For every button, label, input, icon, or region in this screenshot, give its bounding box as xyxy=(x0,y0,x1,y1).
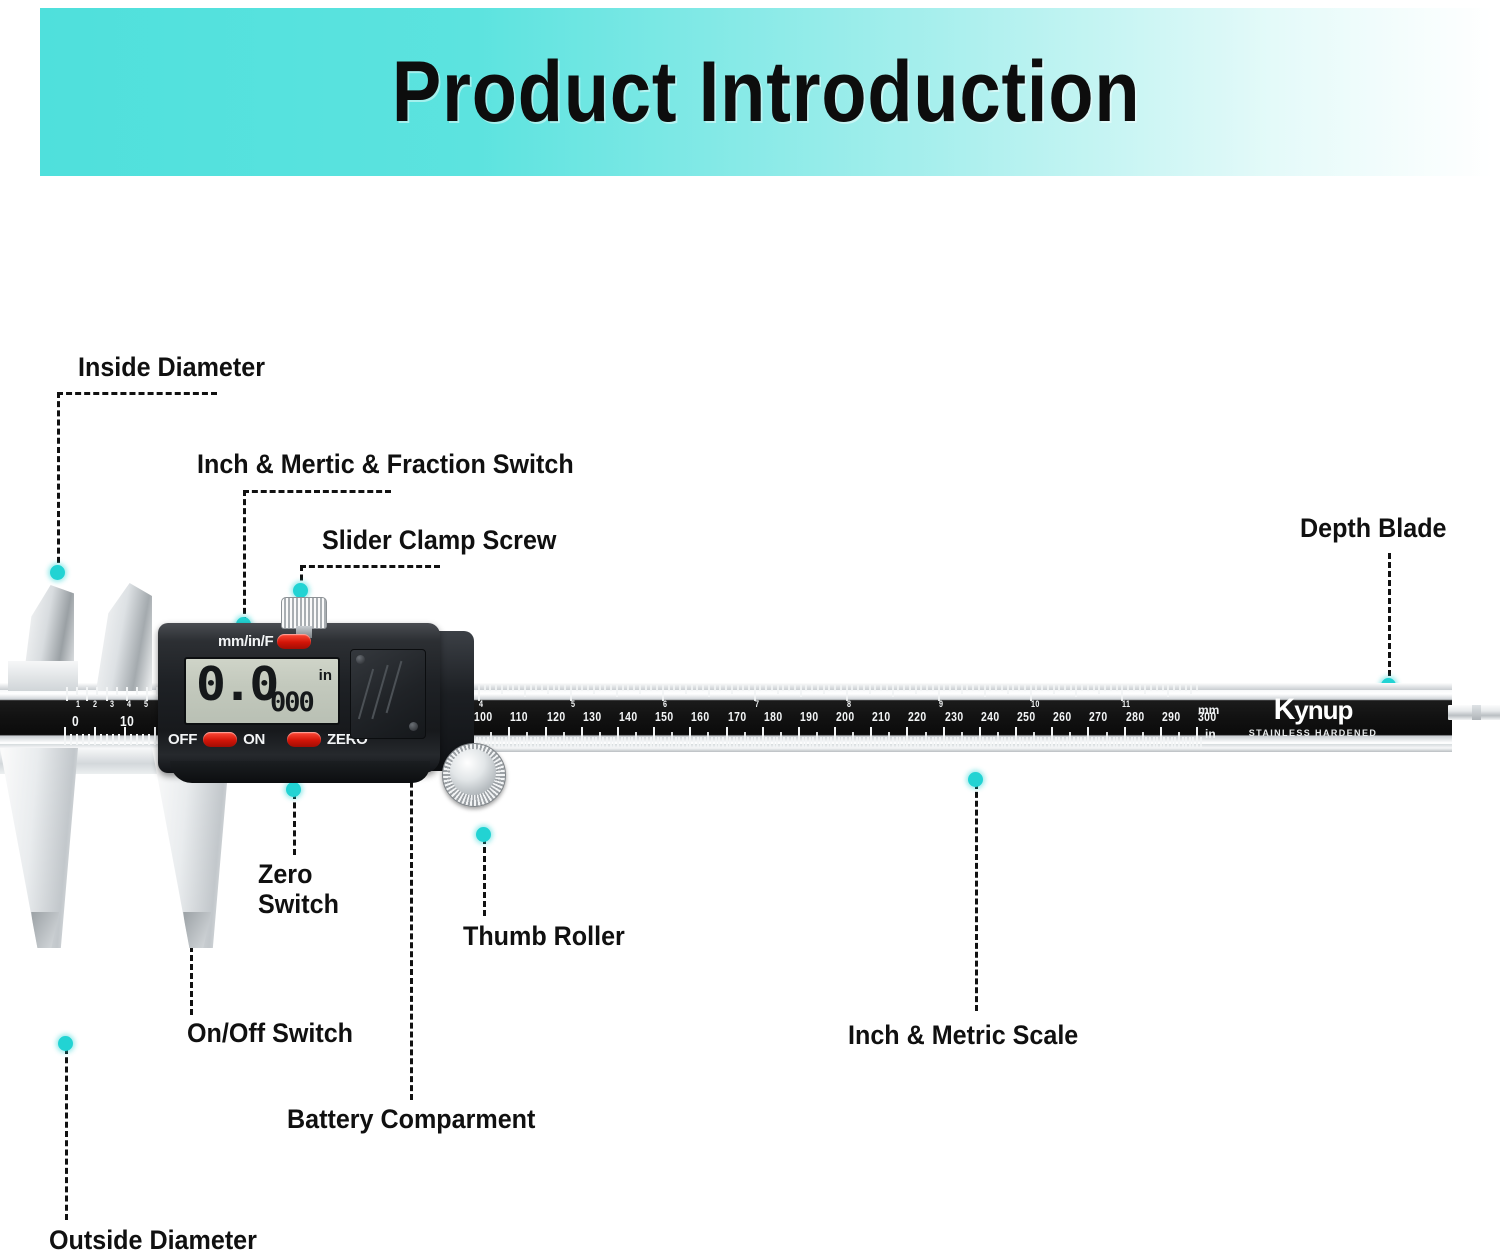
scale-tick-inch xyxy=(731,685,733,694)
scale-tick-minor xyxy=(1200,737,1202,747)
scale-tick-minor xyxy=(624,737,626,747)
scale-tick-minor xyxy=(599,732,601,747)
scale-tick-inch xyxy=(696,685,698,691)
vernier-tick xyxy=(142,734,144,745)
scale-tick-inch xyxy=(851,685,853,691)
scale-tick-inch xyxy=(1093,685,1095,691)
scale-tick-inch xyxy=(1156,685,1158,691)
scale-tick-inch xyxy=(622,685,624,691)
scale-tick-minor xyxy=(816,732,818,747)
scale-tick-minor xyxy=(534,737,536,747)
scale-tick-minor xyxy=(914,737,916,747)
scale-tick-minor xyxy=(758,737,760,747)
scale-tick-minor xyxy=(505,737,507,747)
vernier-tick xyxy=(64,727,66,745)
scale-tick-minor xyxy=(1142,732,1144,747)
scale-tick-minor xyxy=(577,737,579,747)
scale-tick-inch xyxy=(800,685,802,697)
scale-tick-inch xyxy=(1047,685,1049,691)
scale-tick-inch xyxy=(961,685,963,694)
scale-number: 170 xyxy=(728,709,747,724)
scale-tick-minor xyxy=(809,737,811,747)
scale-tick-minor xyxy=(650,737,652,747)
scale-tick-minor xyxy=(1026,737,1028,747)
scale-unit-mm-label: mm xyxy=(1198,703,1219,717)
scale-tick-minor xyxy=(744,732,746,747)
scale-tick-inch xyxy=(984,685,986,697)
scale-tick-minor xyxy=(523,737,525,747)
scale-tick-minor xyxy=(1116,737,1118,747)
scale-tick-inch xyxy=(645,685,647,691)
scale-tick-minor xyxy=(783,737,785,747)
scale-tick-minor xyxy=(552,737,554,747)
scale-tick-minor xyxy=(845,737,847,747)
scale-tick-minor xyxy=(1178,732,1180,747)
scale-tick-minor xyxy=(602,737,604,747)
scale-tick-minor xyxy=(820,737,822,747)
scale-tick-inch xyxy=(897,685,899,691)
scale-tick-minor xyxy=(762,727,764,747)
scale-tick-minor xyxy=(1106,732,1108,747)
scale-tick-inch xyxy=(995,685,997,691)
scale-tick-inch xyxy=(920,685,922,691)
callout-label-inch-metric-fraction-switch: Inch & Mertic & Fraction Switch xyxy=(197,449,574,479)
zero-button[interactable] xyxy=(287,732,321,747)
scale-tick-inch xyxy=(1173,685,1175,691)
scale-tick-minor xyxy=(1192,737,1194,747)
scale-tick-minor xyxy=(653,727,655,747)
scale-tick-inch xyxy=(599,685,601,691)
scale-tick-minor xyxy=(765,737,767,747)
scale-tick-minor xyxy=(1073,737,1075,747)
scale-number: 200 xyxy=(836,709,855,724)
scale-number: 240 xyxy=(981,709,1000,724)
scale-tick-minor xyxy=(512,737,514,747)
scale-tick-minor xyxy=(606,737,608,747)
scale-tick-minor xyxy=(982,737,984,747)
battery-compartment[interactable] xyxy=(350,649,426,739)
vernier-inch-number: 1 xyxy=(76,699,80,709)
scale-number: 220 xyxy=(908,709,927,724)
scale-tick-minor xyxy=(1091,737,1093,747)
brand-initial: K xyxy=(1274,693,1295,726)
scale-tick-inch xyxy=(691,685,693,691)
scale-tick-minor xyxy=(834,727,836,747)
scale-tick-minor xyxy=(1167,737,1169,747)
scale-tick-minor xyxy=(859,737,861,747)
scale-tick-inch xyxy=(714,685,716,691)
scale-tick-minor xyxy=(1066,737,1068,747)
scale-tick-inch xyxy=(840,685,842,691)
scale-tick-inch xyxy=(1150,685,1152,691)
scale-tick-inch xyxy=(501,685,503,694)
scale-tick-minor xyxy=(1062,737,1064,747)
scale-tick-inch xyxy=(857,685,859,691)
scale-tick-inch xyxy=(949,685,951,691)
brand-subtitle: STAINLESS HARDENED xyxy=(1248,728,1378,738)
power-button-row: OFF ON ZERO xyxy=(168,727,368,751)
scale-tick-minor xyxy=(964,737,966,747)
scale-tick-minor xyxy=(1077,737,1079,747)
scale-tick-inch xyxy=(1098,685,1100,694)
callout-label-outside-diameter: Outside Diameter xyxy=(49,1225,257,1255)
scale-tick-inch xyxy=(576,685,578,691)
scale-tick-minor xyxy=(581,727,583,747)
scale-number: 140 xyxy=(619,709,638,724)
scale-tick-minor xyxy=(548,737,550,747)
scale-tick-inch xyxy=(915,685,917,694)
scale-tick-minor xyxy=(1196,727,1198,747)
scale-tick-minor xyxy=(1044,737,1046,747)
scale-tick-minor xyxy=(881,737,883,747)
scale-tick-minor xyxy=(827,737,829,747)
scale-tick-minor xyxy=(1080,737,1082,747)
scale-tick-minor xyxy=(925,732,927,747)
scale-tick-inch xyxy=(742,685,744,691)
slider-upper-inside-jaw xyxy=(96,583,152,691)
scale-tick-inch xyxy=(650,685,652,691)
vernier-inch-number: 3 xyxy=(110,699,114,709)
callout-label-inside-diameter: Inside Diameter xyxy=(78,352,265,382)
vernier-tick xyxy=(136,734,138,745)
vernier-tick xyxy=(70,734,72,745)
mode-button[interactable] xyxy=(277,634,311,649)
vernier-tick xyxy=(106,734,108,745)
scale-number: 260 xyxy=(1053,709,1072,724)
scale-tick-minor xyxy=(595,737,597,747)
scale-tick-inch xyxy=(886,685,888,691)
scale-tick-minor xyxy=(798,727,800,747)
on-off-button[interactable] xyxy=(203,732,237,747)
scale-tick-minor xyxy=(1015,727,1017,747)
lcd-unit-label: in xyxy=(319,667,332,684)
scale-tick-inch xyxy=(966,685,968,691)
scale-tick-minor xyxy=(686,737,688,747)
scale-tick-minor xyxy=(997,732,999,747)
lcd-display: 0.0 000 in xyxy=(184,657,340,725)
scale-tick-minor xyxy=(928,737,930,747)
scale-tick-minor xyxy=(1171,737,1173,747)
leader-line-inside-diameter-v xyxy=(57,392,60,572)
scale-tick-minor xyxy=(874,737,876,747)
scale-tick-minor xyxy=(751,737,753,747)
scale-tick-minor xyxy=(961,732,963,747)
scale-tick-minor xyxy=(867,737,869,747)
scale-tick-minor xyxy=(675,737,677,747)
scale-tick-minor xyxy=(1022,737,1024,747)
scale-tick-minor xyxy=(566,737,568,747)
scale-tick-inch xyxy=(823,685,825,694)
scale-tick-inch xyxy=(1162,685,1164,691)
scale-number: 190 xyxy=(800,709,819,724)
scale-number: 150 xyxy=(655,709,674,724)
scale-tick-minor xyxy=(1087,727,1089,747)
vernier-tick xyxy=(130,734,132,745)
scale-tick-minor xyxy=(1131,737,1133,747)
vernier-tick-upper xyxy=(126,687,128,701)
scale-tick-minor xyxy=(917,737,919,747)
scale-tick-minor xyxy=(1069,732,1071,747)
scale-tick-minor xyxy=(660,737,662,747)
product-introduction-page: Product Introduction Inside Diameter Inc… xyxy=(0,0,1500,1259)
scale-number: 290 xyxy=(1162,709,1181,724)
scale-tick-inch xyxy=(834,685,836,691)
scale-tick-inch xyxy=(535,685,537,691)
scale-tick-minor xyxy=(791,737,793,747)
scale-tick-inch xyxy=(748,685,750,691)
scale-tick-minor xyxy=(1189,737,1191,747)
scale-tick-minor xyxy=(704,737,706,747)
scale-tick-inch xyxy=(679,685,681,691)
scale-tick-minor xyxy=(740,737,742,747)
scale-tick-inch xyxy=(1104,685,1106,691)
scale-tick-inch xyxy=(656,685,658,691)
scale-tick-minor xyxy=(1156,737,1158,747)
brand-name: Kynup xyxy=(1248,695,1378,725)
scale-tick-minor xyxy=(526,732,528,747)
scale-tick-minor xyxy=(1033,732,1035,747)
scale-tick-inch xyxy=(524,685,526,697)
scale-tick-minor xyxy=(537,737,539,747)
scale-tick-inch xyxy=(668,685,670,691)
scale-tick-minor xyxy=(722,737,724,747)
vernier-tick xyxy=(112,734,114,745)
scale-tick-inch xyxy=(616,685,618,697)
scale-number: 230 xyxy=(945,709,964,724)
scale-tick-inch xyxy=(892,685,894,697)
scale-tick-inch xyxy=(765,685,767,691)
vernier-tick xyxy=(100,734,102,745)
scale-tick-inch xyxy=(1053,685,1055,694)
scale-tick-inch xyxy=(495,685,497,691)
scale-tick-minor xyxy=(668,737,670,747)
scale-tick-minor xyxy=(921,737,923,747)
scale-tick-inch xyxy=(702,685,704,691)
scale-tick-minor xyxy=(628,737,630,747)
scale-tick-minor xyxy=(1030,737,1032,747)
scale-tick-inch xyxy=(903,685,905,691)
scale-tick-minor xyxy=(910,737,912,747)
vernier-tick-upper xyxy=(66,687,68,701)
vernier-inch-number: 2 xyxy=(93,699,97,709)
scale-tick-inch xyxy=(874,685,876,691)
scale-tick-inch xyxy=(708,685,710,697)
scale-tick-inch xyxy=(972,685,974,691)
scale-tick-minor xyxy=(950,737,952,747)
scale-tick-minor xyxy=(773,737,775,747)
vernier-tick-upper xyxy=(76,687,78,696)
scale-tick-minor xyxy=(490,732,492,747)
scale-tick-inch xyxy=(978,685,980,691)
vernier-number: 10 xyxy=(120,713,134,730)
scale-tick-minor xyxy=(733,737,735,747)
mode-button-label: mm/in/F xyxy=(218,633,273,650)
scale-tick-minor xyxy=(1138,737,1140,747)
scale-tick-inch xyxy=(518,685,520,691)
scale-tick-inch xyxy=(587,685,589,691)
scale-tick-minor xyxy=(986,737,988,747)
scale-tick-minor xyxy=(1160,727,1162,747)
slider-clamp-screw[interactable] xyxy=(281,597,327,629)
scale-unit-in-label: in xyxy=(1205,727,1216,741)
scale-tick-inch xyxy=(489,685,491,691)
scale-tick-inch xyxy=(1070,685,1072,691)
callout-label-slider-clamp-screw: Slider Clamp Screw xyxy=(322,525,556,555)
scale-tick-inch xyxy=(1041,685,1043,691)
scale-tick-minor xyxy=(805,737,807,747)
scale-tick-minor xyxy=(1095,737,1097,747)
scale-tick-minor xyxy=(726,727,728,747)
scale-tick-minor xyxy=(1051,727,1053,747)
off-label: OFF xyxy=(168,731,197,748)
scale-tick-minor xyxy=(494,737,496,747)
scale-tick-minor xyxy=(1058,737,1060,747)
scale-tick-minor xyxy=(697,737,699,747)
scale-tick-inch xyxy=(719,685,721,691)
scale-tick-minor xyxy=(812,737,814,747)
vernier-tick-upper xyxy=(136,687,138,696)
scale-tick-minor xyxy=(707,732,709,747)
scale-tick-inch xyxy=(604,685,606,691)
scale-tick-inch xyxy=(558,685,560,691)
leader-line-outside-diameter-v xyxy=(65,1048,68,1220)
scale-tick-inch xyxy=(754,685,756,701)
scale-tick-minor xyxy=(794,737,796,747)
scale-tick-minor xyxy=(613,737,615,747)
scale-tick-minor xyxy=(906,727,908,747)
scale-tick-minor xyxy=(1055,737,1057,747)
scale-tick-minor xyxy=(993,737,995,747)
scale-tick-minor xyxy=(610,737,612,747)
scale-tick-inch xyxy=(817,685,819,691)
callout-label-battery-compartment: Battery Comparment xyxy=(287,1104,535,1134)
scale-tick-inch xyxy=(547,685,549,694)
scale-tick-minor xyxy=(1124,727,1126,747)
scale-tick-inch xyxy=(788,685,790,691)
scale-tick-minor xyxy=(559,737,561,747)
scale-tick-minor xyxy=(972,737,974,747)
scale-tick-minor xyxy=(1134,737,1136,747)
scale-tick-inch xyxy=(581,685,583,691)
scale-tick-minor xyxy=(729,737,731,747)
scale-number: 160 xyxy=(691,709,710,724)
scale-tick-minor xyxy=(689,727,691,747)
scale-tick-minor xyxy=(932,737,934,747)
scale-tick-inch xyxy=(610,685,612,691)
vernier-tick xyxy=(154,727,156,745)
scale-tick-inch xyxy=(1110,685,1112,691)
scale-tick-minor xyxy=(1001,737,1003,747)
scale-number: 270 xyxy=(1089,709,1108,724)
scale-tick-minor xyxy=(718,737,720,747)
scale-tick-minor xyxy=(1084,737,1086,747)
scale-tick-minor xyxy=(508,727,510,747)
scale-tick-inch xyxy=(846,685,848,701)
scale-number: 180 xyxy=(764,709,783,724)
scale-tick-minor xyxy=(516,737,518,747)
scale-tick-minor xyxy=(899,737,901,747)
scale-tick-minor xyxy=(1120,737,1122,747)
vernier-tick-upper xyxy=(86,687,88,701)
scale-tick-minor xyxy=(830,737,832,747)
scale-tick-inch xyxy=(811,685,813,691)
scale-tick-inch xyxy=(593,685,595,694)
scale-tick-minor xyxy=(1182,737,1184,747)
callout-label-depth-blade: Depth Blade xyxy=(1300,513,1447,543)
scale-tick-inch xyxy=(530,685,532,691)
scale-tick-minor xyxy=(943,727,945,747)
scale-tick-minor xyxy=(693,737,695,747)
scale-tick-minor xyxy=(617,727,619,747)
scale-tick-inch xyxy=(512,685,514,691)
scale-tick-minor xyxy=(892,737,894,747)
digital-head-base xyxy=(170,761,430,783)
scale-tick-inch xyxy=(1030,685,1032,701)
scale-number-inch: 10 xyxy=(1031,699,1040,709)
scale-tick-minor xyxy=(870,727,872,747)
scale-tick-inch xyxy=(777,685,779,694)
scale-tick-minor xyxy=(1008,737,1010,747)
lcd-value-main: 0.0 xyxy=(196,661,276,707)
battery-screw xyxy=(356,655,365,664)
scale-tick-inch xyxy=(1196,685,1198,691)
scale-tick-inch xyxy=(553,685,555,691)
vernier-tick xyxy=(88,734,90,745)
scale-tick-minor xyxy=(519,737,521,747)
scale-tick-minor xyxy=(1149,737,1151,747)
scale-tick-minor xyxy=(700,737,702,747)
scale-tick-minor xyxy=(903,737,905,747)
battery-screw xyxy=(409,722,418,731)
vernier-tick xyxy=(118,734,120,745)
scale-number: 250 xyxy=(1017,709,1036,724)
leader-line-mode-switch-h xyxy=(243,490,391,493)
scale-tick-minor xyxy=(1113,737,1115,747)
scale-tick-minor xyxy=(646,737,648,747)
vernier-tick-upper xyxy=(116,687,118,696)
scale-tick-inch xyxy=(1167,685,1169,697)
scale-tick-minor xyxy=(682,737,684,747)
page-title: Product Introduction xyxy=(392,49,1140,135)
scale-tick-inch xyxy=(863,685,865,691)
scale-tick-minor xyxy=(555,737,557,747)
scale-tick-minor xyxy=(1102,737,1104,747)
scale-tick-inch xyxy=(737,685,739,691)
on-label: ON xyxy=(243,731,265,748)
thumb-roller[interactable] xyxy=(442,743,506,807)
scale-number: 110 xyxy=(510,709,528,724)
header-banner: Product Introduction xyxy=(40,8,1492,176)
leader-line-clamp-screw-h xyxy=(300,565,440,568)
scale-tick-minor xyxy=(1040,737,1042,747)
scale-tick-minor xyxy=(1004,737,1006,747)
vernier-tick-upper xyxy=(96,687,98,696)
scale-tick-inch xyxy=(1179,685,1181,691)
scale-tick-minor xyxy=(678,737,680,747)
scale-tick-minor xyxy=(1011,737,1013,747)
scale-tick-inch xyxy=(1116,685,1118,691)
scale-tick-minor xyxy=(657,737,659,747)
scale-tick-inch xyxy=(943,685,945,691)
scale-tick-minor xyxy=(1153,737,1155,747)
fixed-outside-jaw xyxy=(0,748,78,948)
scale-tick-minor xyxy=(635,732,637,747)
scale-tick-minor xyxy=(501,737,503,747)
scale-number: 120 xyxy=(547,709,566,724)
scale-tick-inch xyxy=(1001,685,1003,691)
scale-tick-minor xyxy=(856,737,858,747)
scale-tick-inch xyxy=(478,685,480,701)
